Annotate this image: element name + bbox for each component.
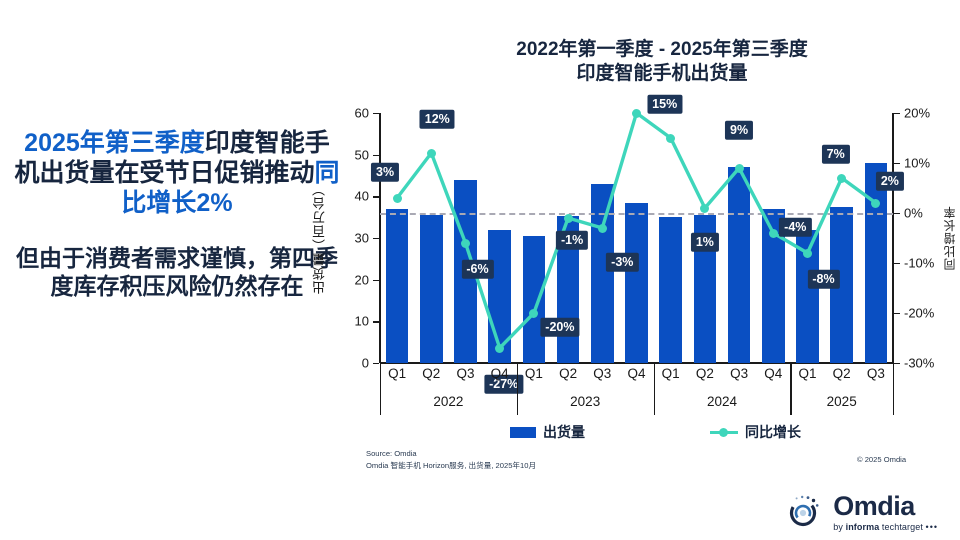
y-axis-right-tick-label: -30% (904, 356, 934, 371)
data-label: 1% (691, 233, 719, 252)
x-axis-group-separator (790, 363, 791, 415)
y-axis-left-tick-label: 20 (355, 272, 369, 287)
x-axis-quarter-label: Q2 (422, 366, 440, 381)
chart-legend: 出货量 同比增长 (380, 422, 893, 444)
x-axis-quarter-label: Q2 (559, 366, 577, 381)
y-axis-right-tick (894, 313, 900, 314)
data-label: 2% (876, 172, 904, 191)
data-point-marker[interactable] (529, 309, 538, 318)
y-axis-right-tick-label: -20% (904, 306, 934, 321)
data-label: 12% (420, 110, 455, 129)
chart-title-line-2: 印度智能手机出货量 (412, 62, 912, 86)
data-point-marker[interactable] (393, 194, 402, 203)
data-point-marker[interactable] (598, 224, 607, 233)
y-axis-left-tick (373, 196, 379, 197)
x-axis-quarter-label: Q1 (388, 366, 406, 381)
y-axis-right-tick (894, 363, 900, 364)
legend-item-shipments[interactable]: 出货量 (510, 422, 585, 442)
data-label: -4% (779, 218, 811, 237)
callout-paragraph-2: 但由于消费者需求谨慎，第四季度库存积压风险仍然存在 (12, 244, 342, 300)
x-axis-group-separator (380, 363, 381, 415)
x-axis-quarter-label: Q3 (593, 366, 611, 381)
y-axis-left-tick-label: 60 (355, 106, 369, 121)
omdia-logo: Omdia by informa techtarget ••• (784, 492, 938, 532)
x-axis-quarter-label: Q2 (696, 366, 714, 381)
legend-item-growth[interactable]: 同比增长 (710, 422, 801, 442)
y-axis-left-tick-label: 40 (355, 189, 369, 204)
source-note: Source: Omdia Omdia 智能手机 Horizon服务, 出货量,… (366, 448, 536, 472)
data-point-marker[interactable] (837, 174, 846, 183)
chart-title-line-1: 2022年第一季度 - 2025年第三季度 (412, 38, 912, 62)
data-label: -20% (540, 318, 579, 337)
x-axis-quarter-label: Q1 (662, 366, 680, 381)
y-axis-left-tick (373, 321, 379, 322)
x-axis-labels: Q1Q2Q3Q42022Q1Q2Q3Q42023Q1Q2Q3Q42024Q1Q2… (380, 363, 893, 421)
data-label: 7% (822, 145, 850, 164)
callout-paragraph-1: 2025年第三季度印度智能手机出货量在受节日促销推动同比增长2% (12, 128, 342, 218)
y-axis-right-tick (894, 113, 900, 114)
x-axis-quarter-label: Q3 (867, 366, 885, 381)
x-axis-group-separator (654, 363, 655, 415)
y-axis-left-tick (373, 280, 379, 281)
x-axis-year-label: 2022 (433, 394, 463, 409)
data-point-marker[interactable] (666, 134, 675, 143)
callout-highlight-head: 2025年第三季度 (24, 129, 205, 157)
y-axis-right-tick (894, 213, 900, 214)
x-axis-quarter-label: Q4 (491, 366, 509, 381)
data-point-marker[interactable] (495, 344, 504, 353)
data-label: 9% (725, 121, 753, 140)
x-axis-quarter-label: Q4 (627, 366, 645, 381)
y-axis-left-tick (373, 113, 379, 114)
y-axis-left-tick-label: 0 (362, 356, 369, 371)
data-point-marker[interactable] (769, 229, 778, 238)
x-axis-quarter-label: Q3 (730, 366, 748, 381)
copyright-note: © 2025 Omdia (857, 455, 906, 464)
x-axis-group-separator (893, 363, 894, 415)
y-axis-left-tick-label: 50 (355, 147, 369, 162)
x-axis-year-label: 2025 (827, 394, 857, 409)
y-axis-right-tick-label: 0% (904, 206, 923, 221)
data-label: -6% (461, 260, 493, 279)
slide-canvas: 2025年第三季度印度智能手机出货量在受节日促销推动同比增长2% 但由于消费者需… (0, 0, 960, 540)
bar-swatch-icon (510, 427, 536, 438)
x-axis-quarter-label: Q1 (798, 366, 816, 381)
data-point-marker[interactable] (461, 239, 470, 248)
x-axis-quarter-label: Q2 (833, 366, 851, 381)
y-axis-left-tick (373, 363, 379, 364)
data-point-marker[interactable] (803, 249, 812, 258)
x-axis-quarter-label: Q3 (456, 366, 474, 381)
chart-container: 2022年第一季度 - 2025年第三季度 印度智能手机出货量 出货量（百万台）… (352, 30, 952, 490)
data-point-marker[interactable] (735, 164, 744, 173)
x-axis-year-label: 2023 (570, 394, 600, 409)
legend-label-growth: 同比增长 (745, 422, 801, 442)
omdia-logo-mark-icon (784, 492, 824, 532)
y-axis-right-tick (894, 163, 900, 164)
data-label: 15% (647, 95, 682, 114)
x-axis-year-label: 2024 (707, 394, 737, 409)
y-axis-left-title: 出货量（百万台） (310, 182, 329, 294)
data-label: -3% (606, 253, 638, 272)
y-axis-left-tick (373, 238, 379, 239)
x-axis-group-separator (517, 363, 518, 415)
legend-label-shipments: 出货量 (543, 422, 585, 442)
y-axis-right-title: 同比增长率 (941, 206, 958, 271)
omdia-logo-text: Omdia by informa techtarget ••• (833, 493, 938, 532)
data-point-marker[interactable] (871, 199, 880, 208)
data-point-marker[interactable] (700, 204, 709, 213)
y-axis-left-tick (373, 155, 379, 156)
y-axis-right-tick-label: 10% (904, 156, 930, 171)
data-label: -8% (807, 270, 839, 289)
omdia-wordmark: Omdia (833, 493, 938, 520)
data-label: -1% (556, 231, 588, 250)
line-swatch-icon (710, 427, 738, 438)
y-axis-left-tick-label: 10 (355, 314, 369, 329)
footer-bar: Omdia by informa techtarget ••• (0, 482, 960, 540)
data-point-marker[interactable] (427, 149, 436, 158)
data-label: 3% (371, 163, 399, 182)
callout-panel: 2025年第三季度印度智能手机出货量在受节日促销推动同比增长2% 但由于消费者需… (12, 128, 342, 300)
x-axis-quarter-label: Q1 (525, 366, 543, 381)
y-axis-right-tick-label: 20% (904, 106, 930, 121)
chart-title: 2022年第一季度 - 2025年第三季度 印度智能手机出货量 (412, 38, 912, 87)
y-axis-left-tick-label: 30 (355, 231, 369, 246)
plot-area: 出货量（百万台） 同比增长率 0102030405060 -30%-20%-10… (380, 113, 893, 363)
y-axis-right-tick-label: -10% (904, 256, 934, 271)
x-axis-quarter-label: Q4 (764, 366, 782, 381)
growth-line-series (380, 113, 893, 363)
omdia-tagline: by informa techtarget ••• (833, 523, 938, 532)
y-axis-right-tick (894, 263, 900, 264)
data-point-marker[interactable] (632, 109, 641, 118)
data-point-marker[interactable] (564, 214, 573, 223)
